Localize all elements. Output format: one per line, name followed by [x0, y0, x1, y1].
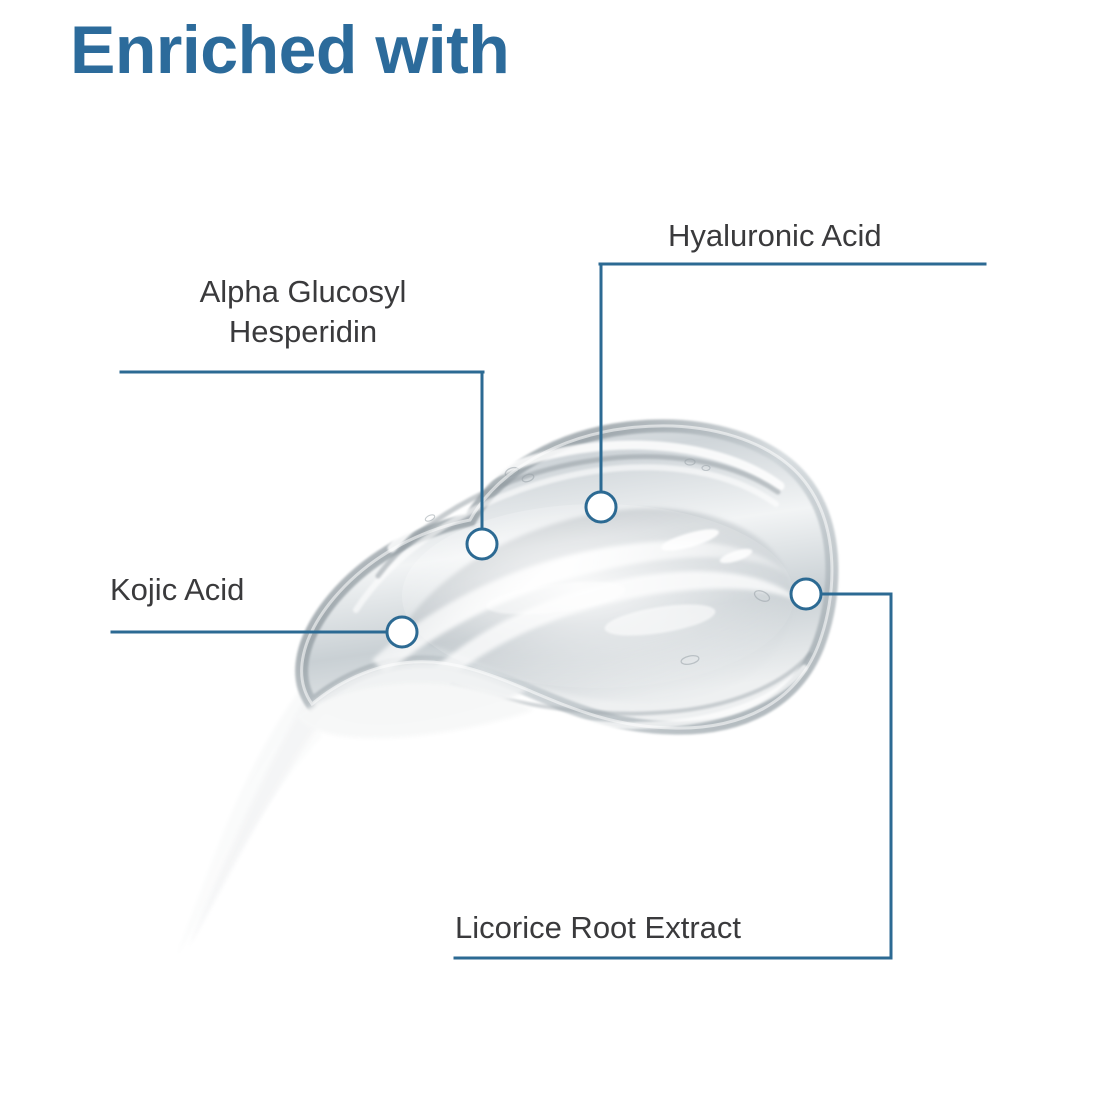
page-title: Enriched with — [70, 16, 509, 84]
marker-hyaluronic-acid[interactable] — [586, 492, 616, 522]
gel-swatch-image — [176, 426, 832, 958]
leader-licorice-root-extract — [821, 594, 891, 958]
marker-alpha-glucosyl-hesperidin[interactable] — [467, 529, 497, 559]
callout-label-hyaluronic-acid: Hyaluronic Acid — [668, 216, 882, 256]
marker-kojic-acid[interactable] — [387, 617, 417, 647]
callout-label-licorice-root-extract: Licorice Root Extract — [455, 908, 741, 948]
callout-label-alpha-glucosyl-hesperidin: Alpha Glucosyl Hesperidin — [122, 272, 484, 351]
connector-alpha-glucosyl-hesperidin — [121, 372, 483, 529]
marker-licorice-root-extract[interactable] — [791, 579, 821, 609]
callout-label-kojic-acid: Kojic Acid — [110, 570, 244, 610]
infographic-canvas: Enriched with Hyaluronic Acid Alpha Gluc… — [0, 0, 1100, 1100]
